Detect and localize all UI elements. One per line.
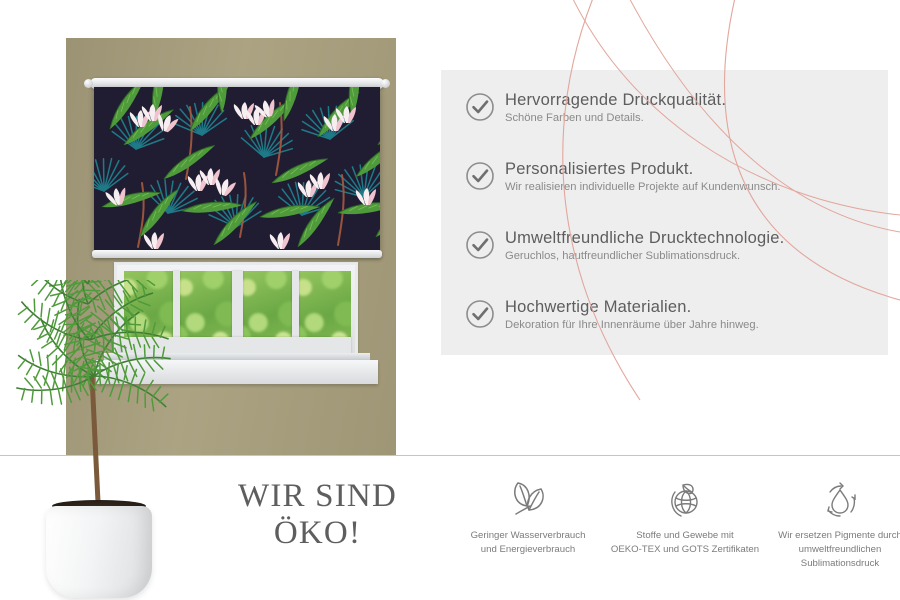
eco-caption-line: Sublimationsdruck — [755, 557, 900, 571]
feature-item: Personalisiertes Produkt. Wir realisiere… — [465, 159, 780, 194]
window-mullion — [232, 271, 243, 339]
droplet-recycle-icon — [816, 476, 864, 524]
feature-item: Hervorragende Druckqualität. Schöne Farb… — [465, 90, 726, 125]
feature-item: Hochwertige Materialien. Dekoration für … — [465, 297, 759, 332]
eco-caption-line: Geringer Wasserverbrauch — [443, 529, 613, 543]
check-circle-icon — [465, 92, 495, 122]
plant-pot — [46, 506, 152, 598]
eco-headline-line1: WIR SIND — [210, 478, 425, 515]
features-panel: Hervorragende Druckqualität. Schöne Farb… — [441, 70, 888, 355]
feature-item: Umweltfreundliche Drucktechnologie. Geru… — [465, 228, 784, 263]
eco-item-certificates: Stoffe und Gewebe mit OEKO-TEX und GOTS … — [600, 474, 770, 557]
feature-subtitle: Geruchlos, hautfreundlicher Sublimations… — [505, 250, 784, 263]
blind-end-cap — [84, 79, 93, 88]
eco-caption-line: OEKO-TEX und GOTS Zertifikaten — [600, 543, 770, 557]
eco-caption-line: Wir ersetzen Pigmente durch — [755, 529, 900, 543]
eco-caption-line: umweltfreundlichen — [755, 543, 900, 557]
marketing-banner: Hervorragende Druckqualität. Schöne Farb… — [0, 0, 900, 600]
window-mullion — [292, 271, 299, 339]
blind-fabric-tropical-print — [94, 87, 380, 251]
eco-item-sublimation: Wir ersetzen Pigmente durch umweltfreund… — [755, 474, 900, 571]
check-circle-icon — [465, 299, 495, 329]
window-pane — [243, 271, 295, 339]
blind-end-cap — [381, 79, 390, 88]
feature-subtitle: Wir realisieren individuelle Projekte au… — [505, 181, 780, 194]
check-circle-icon — [465, 230, 495, 260]
eco-caption: Geringer Wasserverbrauch und Energieverb… — [443, 529, 613, 557]
blind-bottom-rail — [92, 250, 382, 258]
eco-caption-line: Stoffe und Gewebe mit — [600, 529, 770, 543]
eco-caption-line: und Energieverbrauch — [443, 543, 613, 557]
feature-subtitle: Schöne Farben und Details. — [505, 112, 726, 125]
two-leaves-icon — [504, 476, 552, 524]
eco-caption: Stoffe und Gewebe mit OEKO-TEX und GOTS … — [600, 529, 770, 557]
globe-leaf-icon — [661, 476, 709, 524]
window-pane — [299, 271, 351, 339]
roller-blind — [94, 78, 380, 264]
check-circle-icon — [465, 161, 495, 191]
potted-palm-plant — [0, 280, 205, 600]
feature-title: Umweltfreundliche Drucktechnologie. — [505, 229, 784, 248]
feature-title: Hervorragende Druckqualität. — [505, 91, 726, 110]
eco-headline: WIR SIND ÖKO! — [210, 478, 425, 552]
eco-headline-line2: ÖKO! — [210, 515, 425, 552]
feature-subtitle: Dekoration für Ihre Innenräume über Jahr… — [505, 319, 759, 332]
feature-title: Personalisiertes Produkt. — [505, 160, 780, 179]
eco-item-water-energy: Geringer Wasserverbrauch und Energieverb… — [443, 474, 613, 557]
eco-caption: Wir ersetzen Pigmente durch umweltfreund… — [755, 529, 900, 571]
feature-title: Hochwertige Materialien. — [505, 298, 759, 317]
